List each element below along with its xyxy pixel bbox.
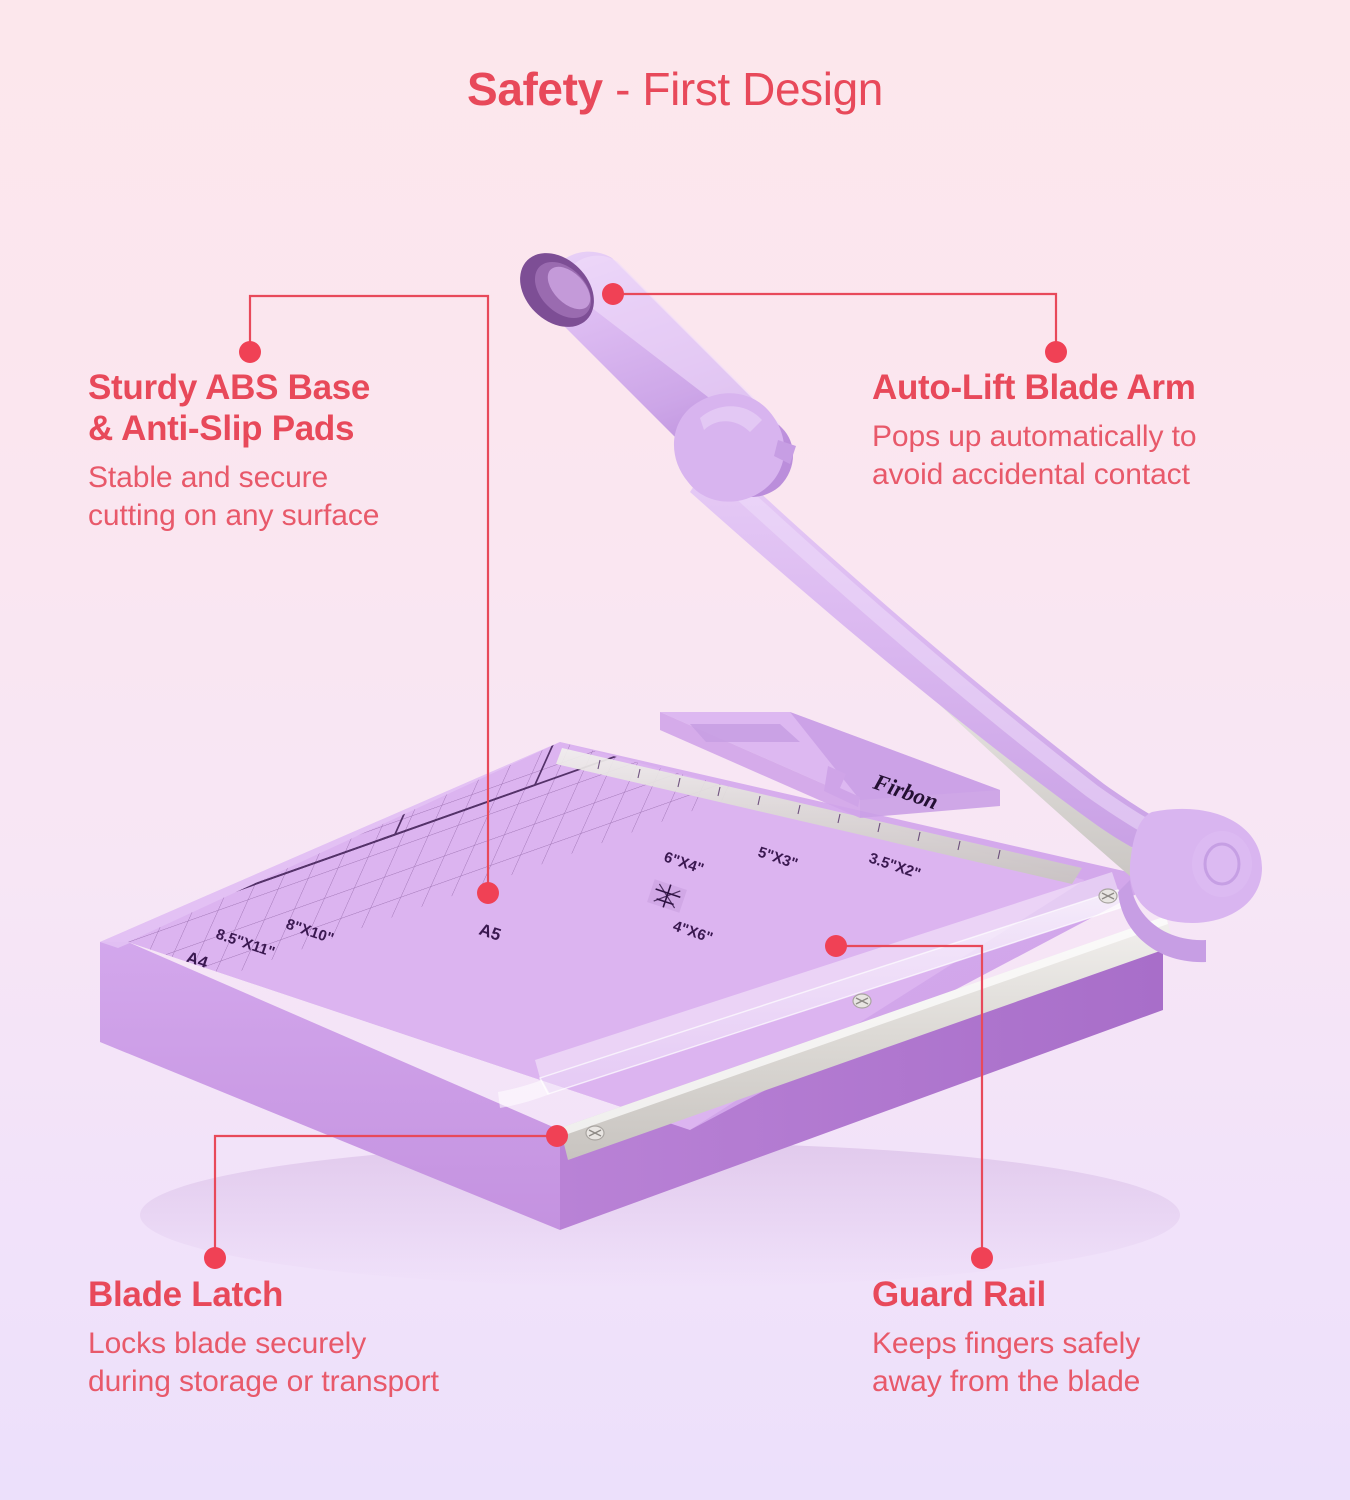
guard-rail-end bbox=[498, 1080, 550, 1108]
callout-heading-blade-latch: Blade Latch bbox=[88, 1275, 568, 1316]
callout-auto-lift-blade-arm: Auto-Lift Blade Arm Pops up automaticall… bbox=[872, 368, 1302, 494]
callout-blade-latch: Blade Latch Locks blade securely during … bbox=[88, 1275, 568, 1401]
rail-screw bbox=[586, 1126, 604, 1140]
callout-heading-sturdy-abs-base: Sturdy ABS Base & Anti-Slip Pads bbox=[88, 368, 508, 450]
callout-body-blade-latch: Locks blade securely during storage or t… bbox=[88, 1325, 568, 1401]
callout-heading-guard-rail: Guard Rail bbox=[872, 1275, 1272, 1316]
callout-guard-rail: Guard Rail Keeps fingers safely away fro… bbox=[872, 1275, 1272, 1401]
callout-sturdy-abs-base: Sturdy ABS Base & Anti-Slip Pads Stable … bbox=[88, 368, 508, 535]
callout-body-auto-lift-blade-arm: Pops up automatically to avoid accidenta… bbox=[872, 418, 1302, 494]
callout-body-sturdy-abs-base: Stable and secure cutting on any surface bbox=[88, 459, 508, 535]
rail-screw bbox=[1099, 889, 1117, 903]
callout-body-guard-rail: Keeps fingers safely away from the blade bbox=[872, 1325, 1272, 1401]
callout-heading-auto-lift-blade-arm: Auto-Lift Blade Arm bbox=[872, 368, 1302, 409]
rail-screw bbox=[853, 994, 871, 1008]
blade-arm-grip[interactable] bbox=[505, 238, 796, 501]
